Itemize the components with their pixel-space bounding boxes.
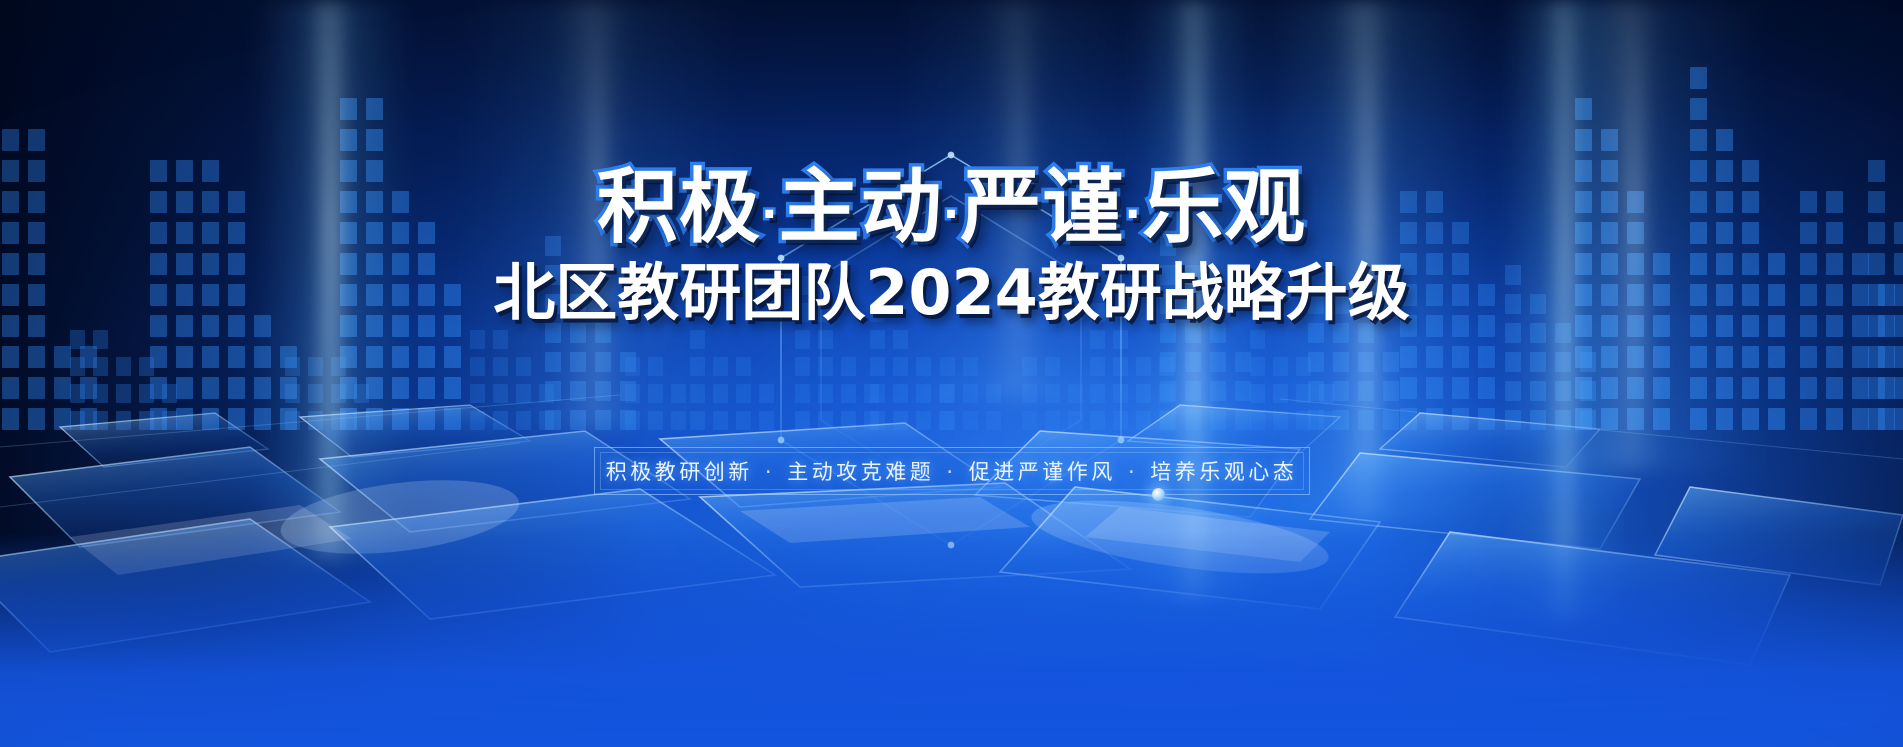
headline-word: 积极 <box>597 161 761 255</box>
subtitle-item: 培养乐观心态 <box>1150 460 1297 484</box>
headline-separator: · <box>761 193 779 237</box>
banner-content: 积极·主动·严谨·乐观 北区教研团队2024教研战略升级 积极教研创新 · 主动… <box>0 0 1903 747</box>
subtitle-item: 主动攻克难题 <box>787 460 934 484</box>
headline-word: 主动 <box>779 161 943 255</box>
headline-separator: · <box>1124 193 1142 237</box>
subtitle-frame: 积极教研创新 · 主动攻克难题 · 促进严谨作风 · 培养乐观心态 <box>594 447 1310 495</box>
glow-orb-icon <box>1152 488 1165 501</box>
subtitle-item: 积极教研创新 <box>606 460 753 484</box>
headline-word: 乐观 <box>1142 161 1306 255</box>
headline-word: 严谨 <box>960 161 1124 255</box>
headline-line-2: 北区教研团队2024教研战略升级 <box>0 262 1903 324</box>
subtitle-separator: · <box>934 460 969 484</box>
subtitle-text: 积极教研创新 · 主动攻克难题 · 促进严谨作风 · 培养乐观心态 <box>606 456 1298 486</box>
subtitle-separator: · <box>1116 460 1151 484</box>
headline-separator: · <box>943 193 961 237</box>
subtitle-separator: · <box>753 460 788 484</box>
headline-line-1: 积极·主动·严谨·乐观 <box>0 168 1903 249</box>
promo-banner: 积极·主动·严谨·乐观 北区教研团队2024教研战略升级 积极教研创新 · 主动… <box>0 0 1903 747</box>
subtitle-item: 促进严谨作风 <box>969 460 1116 484</box>
